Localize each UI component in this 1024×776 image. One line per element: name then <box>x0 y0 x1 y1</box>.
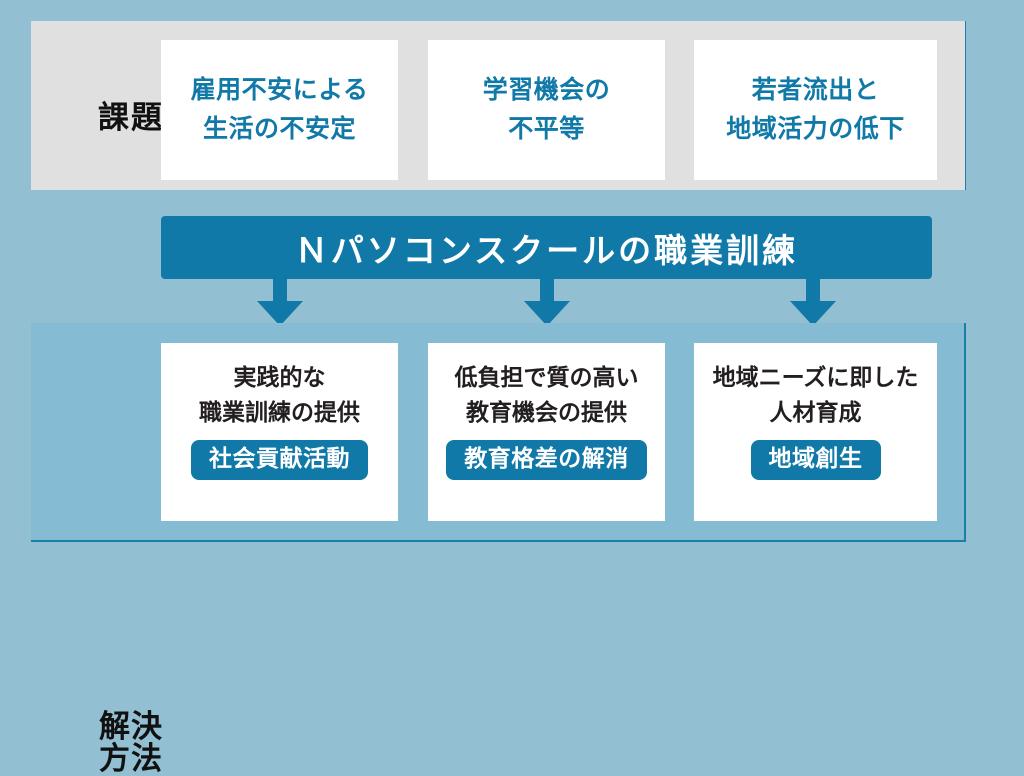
problem-card-1: 雇用不安による 生活の不安定 <box>161 40 398 180</box>
solution-band-label: 解決 方法 <box>79 711 183 775</box>
problem-card-3-text: 若者流出と 地域活力の低下 <box>726 71 905 149</box>
problem-card-1-text: 雇用不安による 生活の不安定 <box>191 71 369 149</box>
problem-card-2-text: 学習機会の 不平等 <box>483 71 611 149</box>
solution-band-label-line1: 解決 <box>79 711 183 743</box>
problem-card-1-line2: 生活の不安定 <box>191 110 369 149</box>
problem-card-2-line2: 不平等 <box>483 110 611 149</box>
down-arrow-icon-1 <box>257 279 303 326</box>
problem-card-2: 学習機会の 不平等 <box>428 40 665 180</box>
center-banner-title: Ｎパソコンスクールの職業訓練 <box>295 224 798 272</box>
down-arrow-icon-3 <box>790 279 836 326</box>
problem-card-3: 若者流出と 地域活力の低下 <box>694 40 937 180</box>
problem-card-3-line1: 若者流出と <box>726 71 905 110</box>
solution-card-1: 実践的な 職業訓練の提供 社会貢献活動 <box>161 343 398 521</box>
solution-card-3-tag: 地域創生 <box>751 440 881 480</box>
problem-card-1-line1: 雇用不安による <box>191 71 369 110</box>
problem-card-3-line2: 地域活力の低下 <box>726 110 905 149</box>
solution-card-2: 低負担で質の高い 教育機会の提供 教育格差の解消 <box>428 343 665 521</box>
solution-card-2-text: 低負担で質の高い 教育機会の提供 <box>455 360 639 430</box>
down-arrow-icon-2 <box>524 279 570 326</box>
solution-card-1-text: 実践的な 職業訓練の提供 <box>199 360 360 430</box>
problem-card-2-line1: 学習機会の <box>483 71 611 110</box>
solution-card-3-text: 地域ニーズに即した 人材育成 <box>713 360 919 430</box>
solution-band-label-line2: 方法 <box>79 743 183 775</box>
solution-card-1-tag: 社会貢献活動 <box>191 440 368 480</box>
solution-card-2-tag: 教育格差の解消 <box>446 440 647 480</box>
center-banner: Ｎパソコンスクールの職業訓練 <box>161 216 932 279</box>
diagram-canvas: 課題 雇用不安による 生活の不安定 学習機会の 不平等 若者流出と 地域活力の低… <box>0 0 1024 562</box>
solution-card-3: 地域ニーズに即した 人材育成 地域創生 <box>694 343 937 521</box>
